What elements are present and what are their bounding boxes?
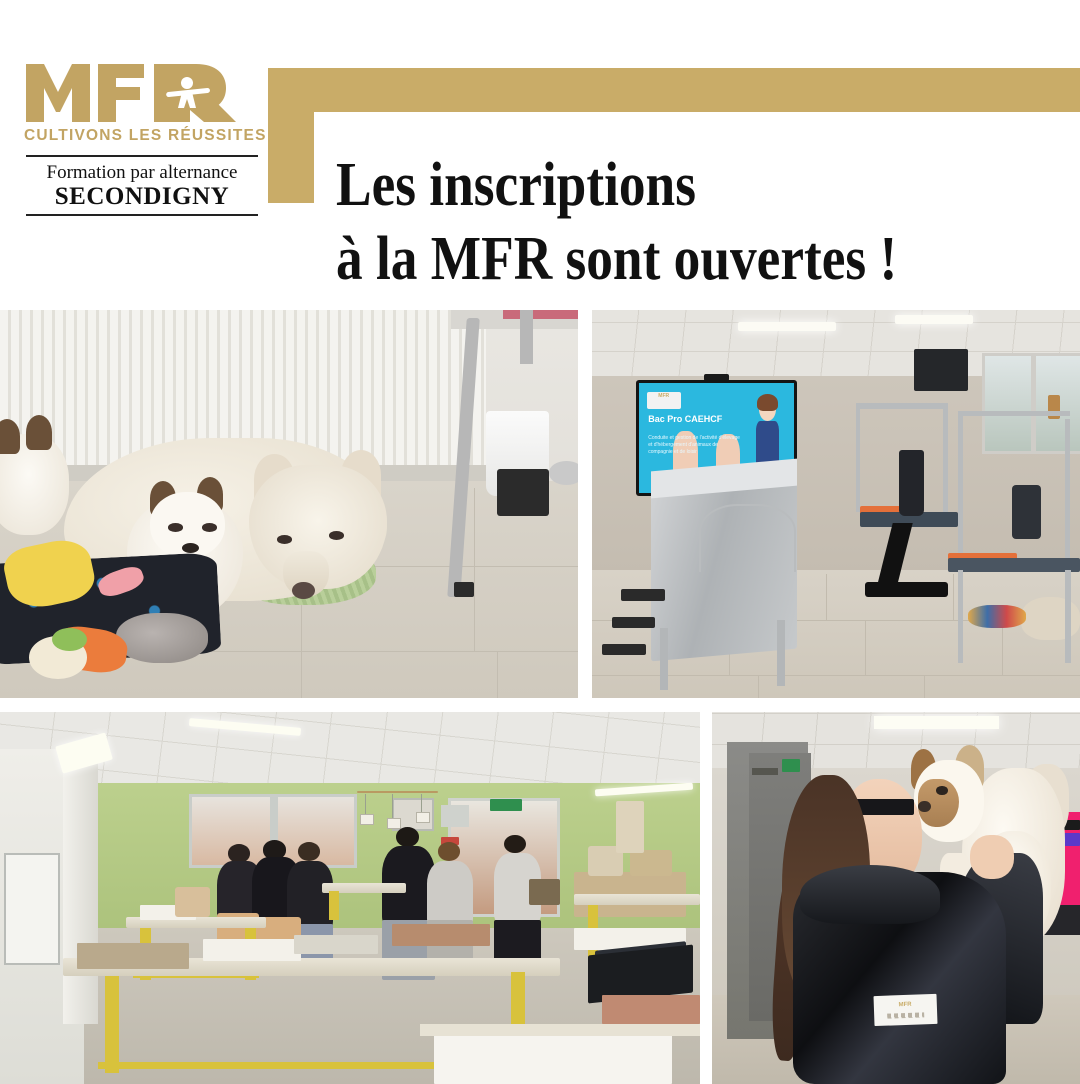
headline-line-2: à la MFR sont ouvertes ! xyxy=(336,222,897,296)
poster-header: CULTIVONS LES RÉUSSITES Formation par al… xyxy=(0,0,1080,308)
mfr-logo-tagline: CULTIVONS LES RÉUSSITES xyxy=(24,127,260,145)
logo-subtitle-location: SECONDIGNY xyxy=(24,184,260,210)
screen-title: Bac Pro CAEHCF xyxy=(648,414,722,424)
photo-open-day-classroom xyxy=(0,712,700,1084)
mfr-logo: CULTIVONS LES RÉUSSITES Formation par al… xyxy=(24,62,260,216)
photo-visitor-with-puppy: MFR xyxy=(712,712,1080,1084)
person-head xyxy=(228,844,250,863)
gold-bracket-stem xyxy=(268,68,314,203)
badge-logo-text: MFR xyxy=(887,1001,922,1008)
headline-line-1: Les inscriptions xyxy=(336,148,897,222)
photo-collage: MFR Bac Pro CAEHCF Conduite et gestion d… xyxy=(0,310,1080,1084)
hand xyxy=(970,835,1014,880)
badge-name-line xyxy=(887,1013,925,1019)
screen-logo-text: MFR xyxy=(647,392,681,400)
badge-mfr-logo-icon: MFR xyxy=(887,1001,922,1011)
logo-divider-bottom xyxy=(26,214,258,216)
name-badge: MFR xyxy=(873,994,937,1026)
logo-subtitle-formation: Formation par alternance xyxy=(24,162,260,184)
photo-dogs-rest-area xyxy=(0,310,578,698)
logo-divider-top xyxy=(26,155,258,157)
screen-mfr-logo-icon: MFR xyxy=(647,392,681,410)
screen-subtitle: Conduite et gestion de l'activité d'élev… xyxy=(648,435,741,456)
gold-bracket-bar xyxy=(268,68,1080,112)
display-table-right xyxy=(574,894,700,905)
page-title: Les inscriptions à la MFR sont ouvertes … xyxy=(336,148,989,296)
photo-grooming-room: MFR Bac Pro CAEHCF Conduite et gestion d… xyxy=(592,310,1080,698)
mfr-wordmark-icon xyxy=(24,62,260,124)
grooming-table-right xyxy=(948,558,1080,571)
exit-sign-icon xyxy=(782,759,800,772)
